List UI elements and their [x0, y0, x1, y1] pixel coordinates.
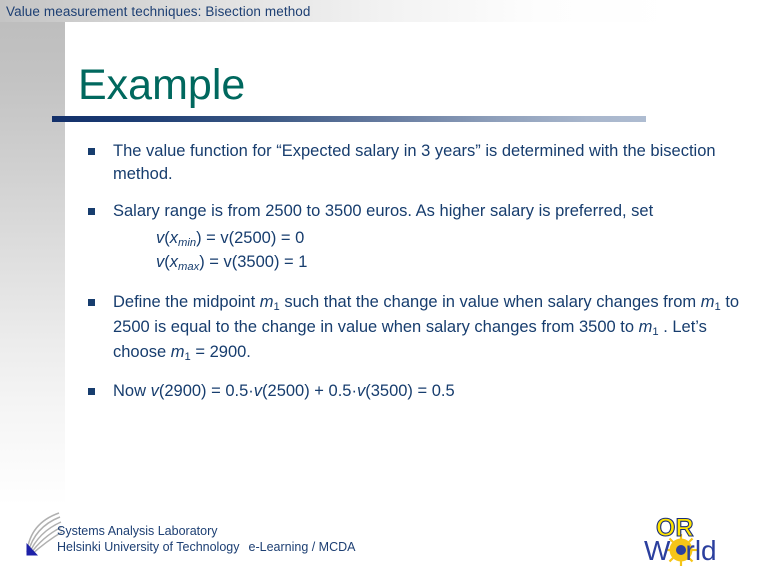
- bullet-item-3: Define the midpoint m1 such that the cha…: [0, 291, 768, 366]
- footer-line-1: Systems Analysis Laboratory: [57, 524, 218, 538]
- or-world-logo: OR World: [638, 510, 750, 568]
- footer-organization: Systems Analysis Laboratory Helsinki Uni…: [57, 523, 356, 555]
- bullet-item-1: The value function for “Expected salary …: [0, 140, 768, 186]
- bullet-text-1: The value function for “Expected salary …: [113, 140, 741, 186]
- header-title: Value measurement techniques: Bisection …: [6, 4, 311, 19]
- bullet-text-3: Define the midpoint m1 such that the cha…: [113, 291, 741, 366]
- footer-course: e‑Learning / MCDA: [249, 540, 356, 554]
- square-bullet-icon: [88, 208, 95, 215]
- title-underline-rule: [52, 116, 646, 122]
- bullet-text-4: Now v(2900) = 0.5·v(2500) + 0.5·v(3500) …: [113, 380, 455, 403]
- square-bullet-icon: [88, 388, 95, 395]
- equation-vmax: v(xmax) = v(3500) = 1: [156, 251, 768, 275]
- page-title: Example: [78, 64, 245, 107]
- bullet-item-2: Salary range is from 2500 to 3500 euros.…: [0, 200, 768, 223]
- bullet-text-2: Salary range is from 2500 to 3500 euros.…: [113, 200, 653, 223]
- slide-body: The value function for “Expected salary …: [0, 140, 768, 417]
- footer-line-2: Helsinki University of Technology: [57, 540, 240, 554]
- square-bullet-icon: [88, 148, 95, 155]
- square-bullet-icon: [88, 299, 95, 306]
- equation-block: v(xmin) = v(2500) = 0 v(xmax) = v(3500) …: [156, 227, 768, 275]
- slide-footer: Systems Analysis Laboratory Helsinki Uni…: [0, 502, 768, 576]
- slide-canvas: Value measurement techniques: Bisection …: [0, 0, 768, 576]
- equation-vmin: v(xmin) = v(2500) = 0: [156, 227, 768, 251]
- bullet-item-4: Now v(2900) = 0.5·v(2500) + 0.5·v(3500) …: [0, 380, 768, 403]
